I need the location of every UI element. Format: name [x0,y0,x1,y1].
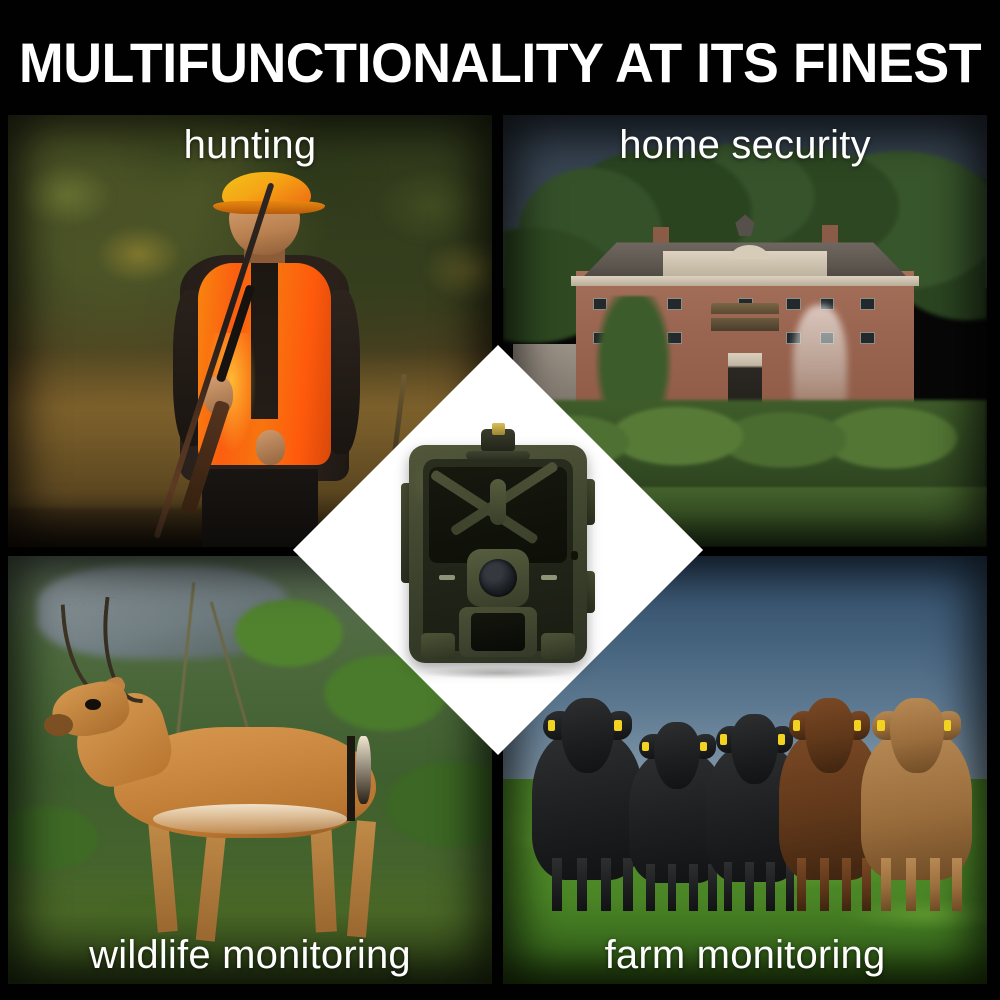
ear-tag [720,734,727,744]
cow-leg [930,858,940,911]
camera-lens-icon [479,559,517,597]
page-title: MULTIFUNCTIONALITY AT ITS FINEST [20,26,980,98]
cow-head [731,714,777,784]
mansion-window [786,298,801,310]
trail-camera-product [409,423,587,673]
cow-leg [842,858,851,911]
ear-tag [614,720,622,731]
cow-leg [601,858,611,911]
cow-leg [745,862,754,911]
cow-head [890,698,943,774]
cow-leg [797,858,806,911]
ear-tag [642,742,649,752]
panel-label-wildlife-monitoring: wildlife monitoring [8,933,492,978]
cow-leg [724,862,733,911]
light-sensor-left [439,575,455,580]
cow-leg [906,858,916,911]
cow-leg [668,864,677,911]
cow-leg [820,858,829,911]
cow-leg [952,858,962,911]
light-sensor-right [541,575,557,580]
cow-leg [577,858,587,911]
panel-label-home-security: home security [503,123,987,168]
cow-leg [766,862,775,911]
ear-tag [793,720,800,731]
cow-leg [552,858,562,911]
mansion-window [860,298,875,310]
hunter-figure [153,158,376,547]
mansion-window [860,332,875,344]
cow [532,684,643,907]
ear-tag [944,720,952,731]
lock-hole [566,545,583,567]
ear-tag [877,720,885,731]
cow-leg [646,864,655,911]
cow-leg [881,858,891,911]
pir-motion-sensor [471,613,525,651]
panel-label-farm-monitoring: farm monitoring [503,933,987,978]
ear-tag [548,720,556,731]
cow [861,684,972,907]
cow-leg [689,864,698,911]
promo-graphic: MULTIFUNCTIONALITY AT ITS FINEST [0,0,1000,1000]
antenna-connector-icon [492,423,505,435]
ear-tag [854,720,861,731]
panel-label-hunting: hunting [8,123,492,168]
